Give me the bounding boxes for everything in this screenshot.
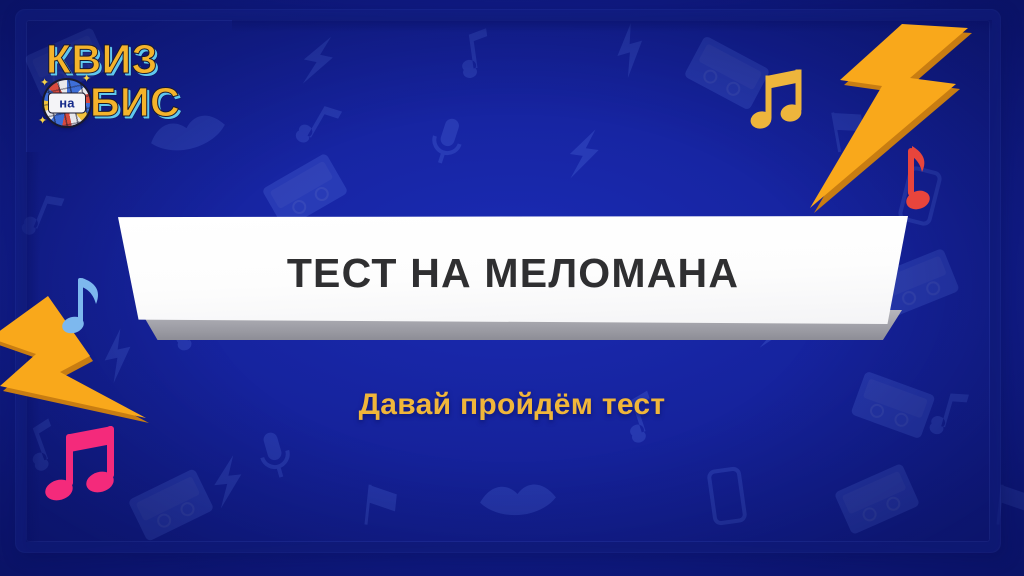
music-note-lightblue-icon (62, 272, 114, 338)
page-title: ТЕСТ НА МЕЛОМАНА (287, 250, 739, 297)
title-banner: ТЕСТ НА МЕЛОМАНА (118, 216, 908, 354)
banner-face: ТЕСТ НА МЕЛОМАНА (118, 216, 908, 324)
music-note-red-icon (892, 142, 942, 214)
brand-logo[interactable]: КВИЗ на ✦ ✦ ✦ БИС (38, 36, 218, 134)
sparkle-icon-top: ✦ (82, 74, 91, 85)
music-note-pink-icon (44, 424, 120, 514)
disco-globe-icon: на (44, 80, 90, 126)
music-note-gold-icon (752, 68, 806, 134)
sparkle-icon-left: ✦ (40, 78, 49, 89)
logo-text-bis: БИС (90, 79, 180, 126)
subtitle-text: Давай пройдём тест (0, 388, 1024, 422)
lightning-bolt-top-right-icon (806, 20, 976, 220)
logo-badge-na: на (48, 93, 86, 114)
sparkle-icon-bottom: ✦ (38, 116, 47, 127)
slide-canvas: КВИЗ на ✦ ✦ ✦ БИС (0, 0, 1024, 576)
logo-text-kviz: КВИЗ (46, 36, 158, 83)
